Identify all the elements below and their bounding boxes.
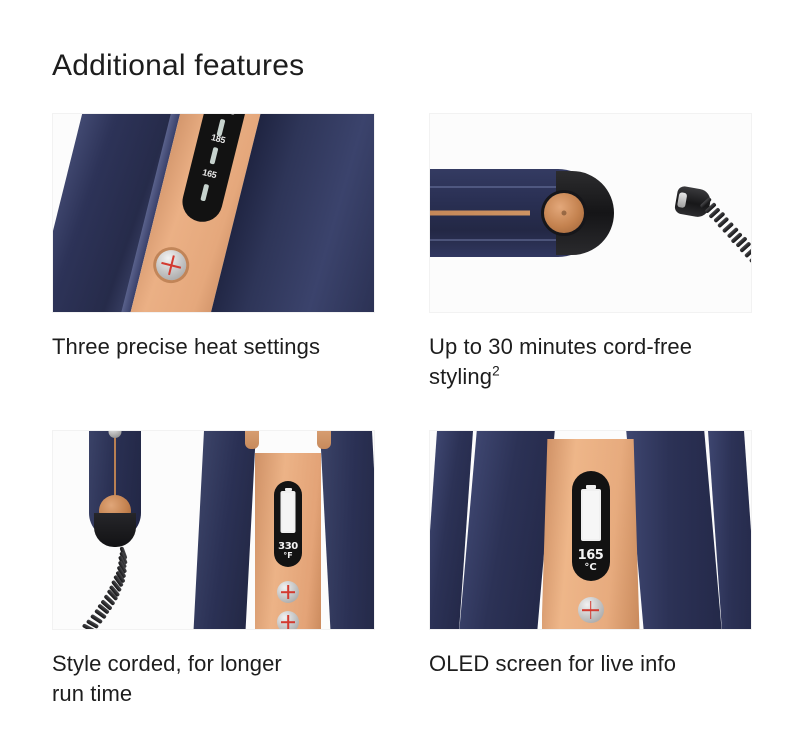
oled-closeup-illustration: 165 °C bbox=[430, 431, 751, 629]
temperature-unit: °C bbox=[578, 563, 604, 574]
feature-image-corded: 330 °F bbox=[52, 430, 375, 630]
caption-line-2: run time bbox=[52, 681, 132, 706]
caption-line-1: Up to 30 minutes cord-free bbox=[429, 334, 692, 359]
heat-value-3: 165 bbox=[201, 167, 217, 180]
caption-line-1: Three precise heat settings bbox=[52, 334, 320, 359]
feature-caption-heat-settings: Three precise heat settings bbox=[52, 332, 375, 394]
features-row-2: 330 °F Style corded, for longer run time bbox=[52, 430, 752, 711]
feature-caption-cordfree: Up to 30 minutes cord-free styling2 bbox=[429, 332, 752, 394]
feature-card-heat-settings: 210 185 165 Three precise heat set bbox=[52, 113, 375, 394]
magnetic-charging-port-icon bbox=[544, 193, 584, 233]
styler-tip-left bbox=[245, 430, 259, 449]
styler-arm-right bbox=[626, 431, 721, 630]
heat-tick-3 bbox=[200, 184, 209, 202]
caption-footnote-marker: 2 bbox=[492, 364, 500, 379]
body-end-cap bbox=[94, 513, 136, 547]
copper-seam bbox=[114, 430, 116, 499]
styler-arm-left bbox=[193, 430, 256, 630]
styler-arm-right bbox=[319, 430, 375, 630]
temperature-readout: 165 °C bbox=[578, 549, 604, 573]
styler-arm-left bbox=[459, 431, 554, 630]
features-grid: 210 185 165 Three precise heat set bbox=[52, 113, 752, 711]
heat-value-2: 185 bbox=[210, 132, 226, 145]
body-groove-bottom bbox=[429, 239, 574, 241]
temperature-unit: °F bbox=[278, 552, 298, 560]
feature-card-cordfree: Up to 30 minutes cord-free styling2 bbox=[429, 113, 752, 394]
heat-down-button-icon bbox=[277, 611, 299, 630]
styler-front-view: 330 °F bbox=[193, 430, 375, 630]
oled-display: 330 °F bbox=[274, 481, 302, 567]
page-title: Additional features bbox=[52, 48, 304, 84]
styler-body: 210 185 165 bbox=[52, 113, 375, 313]
caption-line-1: Style corded, for longer bbox=[52, 651, 282, 676]
body-groove-top bbox=[429, 186, 574, 188]
feature-caption-corded: Style corded, for longer run time bbox=[52, 649, 375, 711]
styler-tip-right bbox=[317, 430, 331, 449]
feature-card-oled: 165 °C OLED screen for live info bbox=[429, 430, 752, 711]
styler-body-end bbox=[429, 169, 602, 257]
feature-image-cordfree bbox=[429, 113, 752, 313]
additional-features-page: Additional features 210 bbox=[0, 0, 799, 741]
features-row-1: 210 185 165 Three precise heat set bbox=[52, 113, 752, 394]
battery-icon bbox=[581, 489, 601, 541]
attached-power-cable bbox=[73, 549, 143, 630]
temperature-value: 165 bbox=[578, 549, 604, 563]
heat-value-active: 210 bbox=[215, 113, 237, 115]
styler-copper-panel: 165 °C bbox=[542, 439, 640, 630]
charging-cable bbox=[697, 201, 752, 284]
temperature-readout: 330 °F bbox=[278, 542, 298, 560]
feature-card-corded: 330 °F Style corded, for longer run time bbox=[52, 430, 375, 711]
copper-contact-strip bbox=[429, 211, 530, 216]
styler-illustration-angled: 210 185 165 bbox=[53, 114, 374, 312]
caption-line-2: styling bbox=[429, 364, 492, 389]
caption-line-1: OLED screen for live info bbox=[429, 651, 676, 676]
heat-tick-2 bbox=[209, 147, 218, 165]
power-button-icon bbox=[578, 597, 604, 623]
heat-up-button-icon bbox=[277, 581, 299, 603]
feature-image-oled: 165 °C bbox=[429, 430, 752, 630]
battery-icon bbox=[281, 491, 296, 533]
feature-caption-oled: OLED screen for live info bbox=[429, 649, 752, 711]
styler-copper-panel: 330 °F bbox=[255, 453, 321, 630]
feature-image-heat-settings: 210 185 165 bbox=[52, 113, 375, 313]
oled-display: 165 °C bbox=[572, 471, 610, 581]
